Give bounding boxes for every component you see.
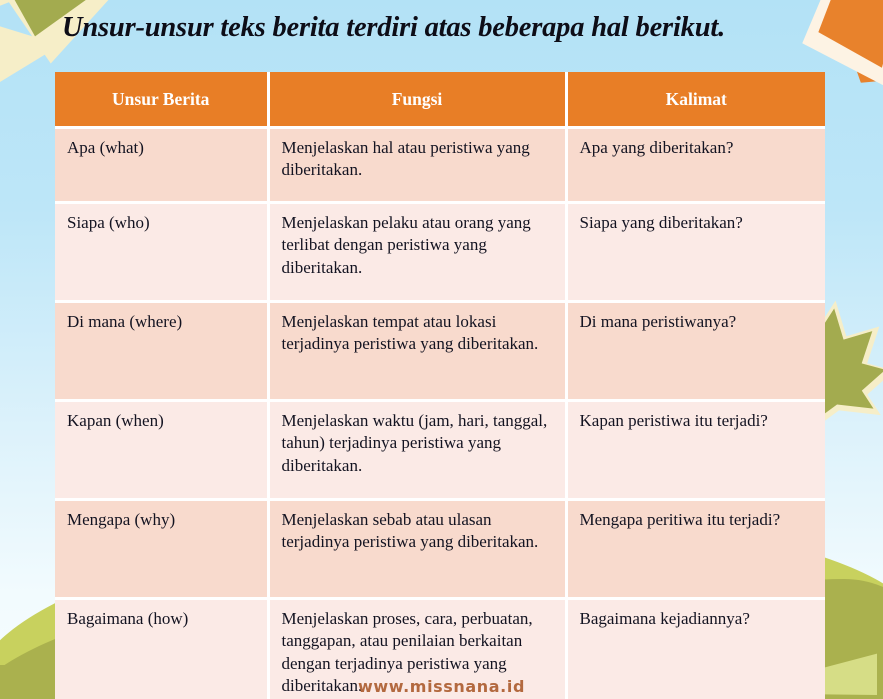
cell-unsur: Apa (what): [55, 128, 268, 203]
cell-kalimat: Apa yang diberitakan?: [566, 128, 825, 203]
leaf-top-left-cream-icon: [0, 0, 63, 90]
site-watermark: www.missnana.id: [0, 677, 883, 696]
table-row: Mengapa (why) Menjelaskan sebab atau ula…: [55, 500, 825, 599]
cell-unsur: Kapan (when): [55, 401, 268, 500]
cell-fungsi: Menjelaskan tempat atau lokasi terjadiny…: [268, 302, 566, 401]
cell-fungsi: Menjelaskan waktu (jam, hari, tanggal, t…: [268, 401, 566, 500]
column-header-unsur-berita: Unsur Berita: [55, 72, 268, 128]
table-row: Apa (what) Menjelaskan hal atau peristiw…: [55, 128, 825, 203]
table-row: Siapa (who) Menjelaskan pelaku atau oran…: [55, 203, 825, 302]
column-header-kalimat: Kalimat: [566, 72, 825, 128]
cell-unsur: Siapa (who): [55, 203, 268, 302]
news-elements-table: Unsur Berita Fungsi Kalimat Apa (what) M…: [55, 72, 825, 699]
table-body: Apa (what) Menjelaskan hal atau peristiw…: [55, 128, 825, 699]
table-header-row: Unsur Berita Fungsi Kalimat: [55, 72, 825, 128]
column-header-fungsi: Fungsi: [268, 72, 566, 128]
cell-kalimat: Mengapa peritiwa itu terjadi?: [566, 500, 825, 599]
table-row: Di mana (where) Menjelaskan tempat atau …: [55, 302, 825, 401]
cell-kalimat: Di mana peristiwanya?: [566, 302, 825, 401]
cell-fungsi: Menjelaskan sebab atau ulasan terjadinya…: [268, 500, 566, 599]
cell-unsur: Di mana (where): [55, 302, 268, 401]
slide-title: Unsur-unsur teks berita terdiri atas beb…: [62, 12, 852, 44]
cell-kalimat: Siapa yang diberitakan?: [566, 203, 825, 302]
table-head: Unsur Berita Fungsi Kalimat: [55, 72, 825, 128]
cell-fungsi: Menjelaskan hal atau peristiwa yang dibe…: [268, 128, 566, 203]
slide-canvas: Unsur-unsur teks berita terdiri atas beb…: [0, 0, 883, 699]
cell-unsur: Mengapa (why): [55, 500, 268, 599]
table-row: Kapan (when) Menjelaskan waktu (jam, har…: [55, 401, 825, 500]
cell-fungsi: Menjelaskan pelaku atau orang yang terli…: [268, 203, 566, 302]
cell-kalimat: Kapan peristiwa itu terjadi?: [566, 401, 825, 500]
